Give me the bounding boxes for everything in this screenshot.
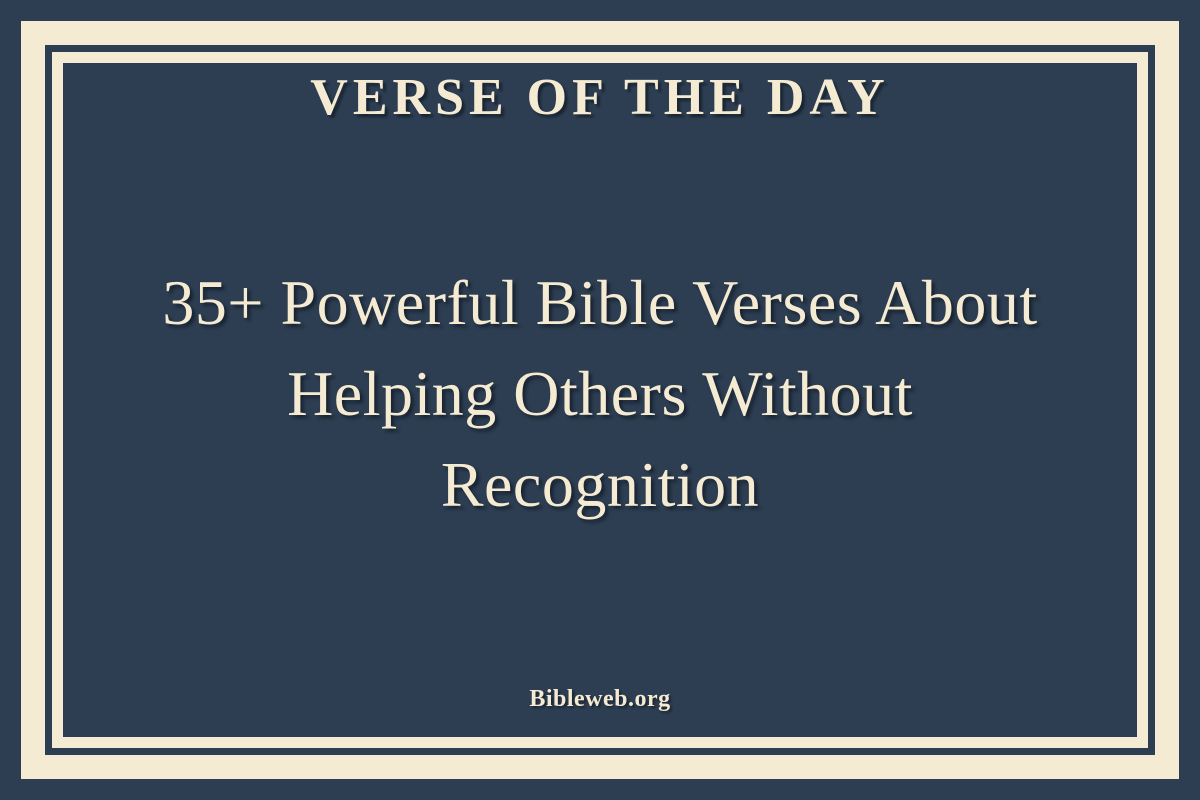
card-content: VERSE OF THE DAY 35+ Powerful Bible Vers…	[63, 63, 1137, 737]
title-line-1: 35+ Powerful Bible Verses About	[162, 267, 1037, 338]
page-title: 35+ Powerful Bible Verses About Helping …	[162, 258, 1037, 531]
title-line-2: Helping Others Without	[287, 358, 913, 429]
title-container: 35+ Powerful Bible Verses About Helping …	[63, 102, 1137, 686]
title-line-3: Recognition	[441, 449, 759, 520]
verse-of-the-day-card: VERSE OF THE DAY 35+ Powerful Bible Vers…	[0, 0, 1200, 800]
site-attribution: Bibleweb.org	[529, 686, 670, 713]
